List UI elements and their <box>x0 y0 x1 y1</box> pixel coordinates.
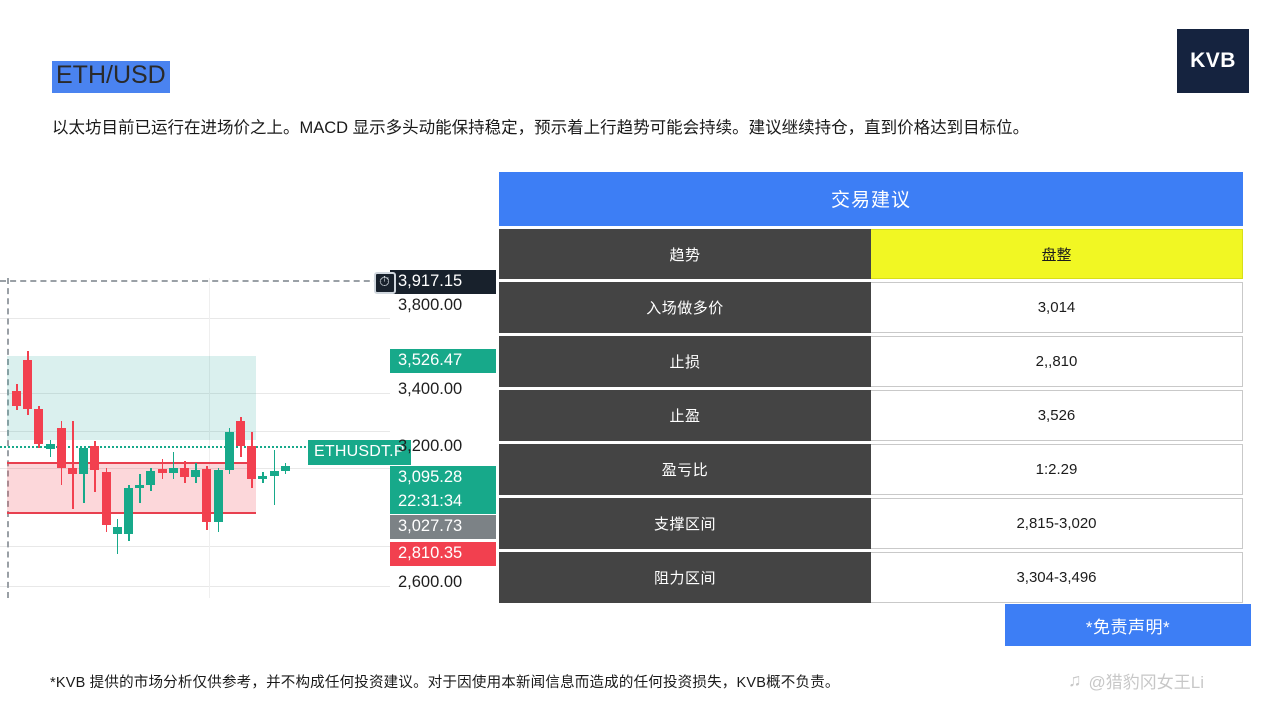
footer-disclaimer-text: *KVB 提供的市场分析仅供参考，并不构成任何投资建议。对于因使用本新闻信息而造… <box>50 671 840 692</box>
table-row-label: 止损 <box>499 336 871 387</box>
take-profit-pill: 3,526.47 <box>390 349 496 373</box>
kvb-logo: KVB <box>1177 29 1249 93</box>
price-pill-top: 3,917.15 <box>390 270 496 294</box>
table-row: 入场做多价3,014 <box>499 282 1243 333</box>
table-row: 止损2,,810 <box>499 336 1243 387</box>
table-row-label: 阻力区间 <box>499 552 871 603</box>
table-row: 止盈3,526 <box>499 390 1243 441</box>
grid-line <box>0 546 390 547</box>
table-row-value: 3,526 <box>871 390 1243 441</box>
kvb-logo-text: KVB <box>1190 49 1236 73</box>
table-row-value: 1:2.29 <box>871 444 1243 495</box>
axis-tick: 3,800.00 <box>398 296 462 315</box>
table-row: 盈亏比1:2.29 <box>499 444 1243 495</box>
grid-line <box>0 586 390 587</box>
axis-tick: 3,400.00 <box>398 380 462 399</box>
table-row-value: 2,815-3,020 <box>871 498 1243 549</box>
table-row-value: 3,014 <box>871 282 1243 333</box>
table-row: 支撑区间2,815-3,020 <box>499 498 1243 549</box>
table-row-label: 止盈 <box>499 390 871 441</box>
price-axis: 3,917.15 ⏱ 3,800.00 3,526.47 3,400.00 3,… <box>390 270 500 595</box>
table-body: 入场做多价3,014止损2,,810止盈3,526盈亏比1:2.29支撑区间2,… <box>499 282 1243 603</box>
chart-top-dashed-border <box>0 280 390 282</box>
axis-tick: 2,600.00 <box>398 573 462 592</box>
table-row-value: 3,304-3,496 <box>871 552 1243 603</box>
table-row-trend: 趋势 盘整 <box>499 229 1243 279</box>
disclaimer-button[interactable]: *免责声明* <box>1005 604 1251 646</box>
table-row: 阻力区间3,304-3,496 <box>499 552 1243 603</box>
watermark-icon: ♫ <box>1068 670 1082 691</box>
table-row-label: 盈亏比 <box>499 444 871 495</box>
chart-plot-area <box>0 278 390 598</box>
table-row-label: 支撑区间 <box>499 498 871 549</box>
trade-recommendation-table: 交易建议 趋势 盘整 入场做多价3,014止损2,,810止盈3,526盈亏比1… <box>499 172 1243 603</box>
table-title: 交易建议 <box>499 172 1243 226</box>
mid-value-pill: 3,027.73 <box>390 515 496 539</box>
watermark-text: @猎豹冈女王Li <box>1089 668 1205 693</box>
table-row-value: 盘整 <box>871 229 1243 279</box>
grid-line <box>0 318 390 319</box>
countdown-pill: 22:31:34 <box>390 490 496 514</box>
take-profit-zone <box>7 356 256 440</box>
stop-loss-pill: 2,810.35 <box>390 542 496 566</box>
table-row-value: 2,,810 <box>871 336 1243 387</box>
analysis-summary: 以太坊目前已运行在进场价之上。MACD 显示多头动能保持稳定，预示着上行趋势可能… <box>52 113 1112 143</box>
axis-tick: 3,200.00 <box>398 437 462 456</box>
table-row-label: 趋势 <box>499 229 871 279</box>
last-price-pill: 3,095.28 <box>390 466 496 490</box>
watermark: ♫ @猎豹冈女王Li <box>1068 668 1204 693</box>
clock-icon: ⏱ <box>374 272 396 294</box>
table-row-label: 入场做多价 <box>499 282 871 333</box>
page-title: ETH/USD <box>52 61 170 93</box>
